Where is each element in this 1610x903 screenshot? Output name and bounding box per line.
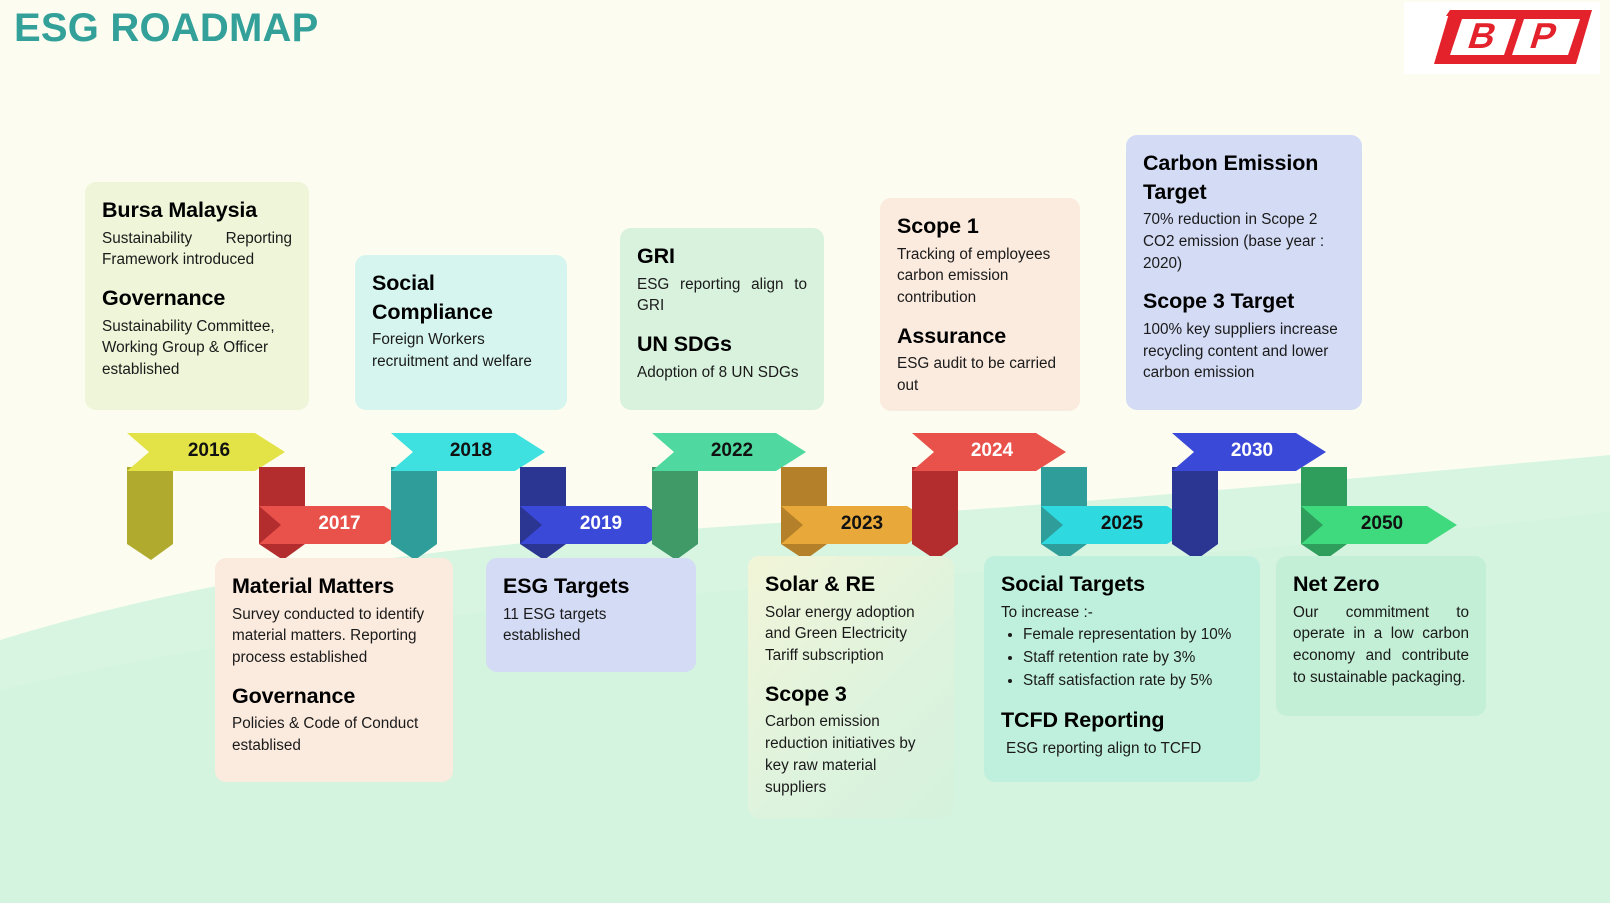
milestone-card-social-compliance: Social ComplianceForeign Workers recruit… [355, 255, 567, 410]
arrow-fold-2024 [912, 467, 958, 560]
card-heading: Carbon Emission Target [1143, 149, 1345, 206]
milestone-card-bursa-malaysia: Bursa MalaysiaSustainability Reporting F… [85, 182, 309, 410]
card-body: Sustainability Committee, Working Group … [102, 316, 292, 381]
arrow-fold-2022 [652, 467, 698, 560]
timeline-arrow-2017 [259, 506, 414, 544]
card-heading: Scope 3 [765, 680, 937, 709]
timeline-arrow-2050 [1301, 506, 1457, 544]
card-body: Our commitment to operate in a low carbo… [1293, 602, 1469, 689]
card-heading: Bursa Malaysia [102, 196, 292, 225]
arrow-fold-2018 [391, 467, 437, 560]
card-bullet-item: Staff satisfaction rate by 5% [1023, 670, 1243, 693]
esg-roadmap-infographic: ESG ROADMAP B P Bursa MalaysiaSustainabi… [0, 0, 1610, 903]
milestone-card-gri-un-sdgs: GRIESG reporting align to GRIUN SDGsAdop… [620, 228, 824, 410]
card-body: ESG reporting align to TCFD [1001, 738, 1243, 760]
card-heading: GRI [637, 242, 807, 271]
card-body: 100% key suppliers increase recycling co… [1143, 319, 1345, 384]
card-body: Sustainability Reporting Framework intro… [102, 228, 292, 271]
card-body: Carbon emission reduction initiatives by… [765, 711, 937, 798]
card-body: 70% reduction in Scope 2 CO2 emission (b… [1143, 209, 1345, 274]
card-body: Adoption of 8 UN SDGs [637, 362, 807, 384]
milestone-card-solar-re-scope-3: Solar & RESolar energy adoption and Gree… [748, 556, 954, 818]
company-logo: B P [1404, 2, 1600, 74]
timeline-arrow-2022 [652, 433, 806, 471]
card-heading: Material Matters [232, 572, 436, 601]
card-heading: Governance [102, 284, 292, 313]
card-bullet-item: Staff retention rate by 3% [1023, 647, 1243, 670]
card-body: Survey conducted to identify material ma… [232, 604, 436, 669]
card-bullet-list: Female representation by 10%Staff retent… [1001, 624, 1243, 693]
arrow-fold-2016 [127, 467, 173, 560]
card-body: Tracking of employees carbon emission co… [897, 244, 1063, 309]
card-heading: Social Compliance [372, 269, 550, 326]
milestone-card-carbon-emission-target: Carbon Emission Target70% reduction in S… [1126, 135, 1362, 410]
timeline-arrow-2016 [127, 433, 285, 471]
timeline-arrow-2018 [391, 433, 545, 471]
page-title: ESG ROADMAP [14, 6, 318, 51]
timeline-arrow-2024 [912, 433, 1066, 471]
card-bullet-item: Female representation by 10% [1023, 624, 1243, 647]
milestone-card-esg-targets: ESG Targets11 ESG targets established [486, 558, 696, 672]
milestone-card-net-zero: Net ZeroOur commitment to operate in a l… [1276, 556, 1486, 716]
card-heading: Scope 1 [897, 212, 1063, 241]
milestone-card-social-targets-tcfd: Social TargetsTo increase :-Female repre… [984, 556, 1260, 782]
card-heading: TCFD Reporting [1001, 706, 1243, 735]
card-heading: Governance [232, 682, 436, 711]
card-body: Solar energy adoption and Green Electric… [765, 602, 937, 667]
card-heading: UN SDGs [637, 330, 807, 359]
card-body: Policies & Code of Conduct establised [232, 713, 436, 756]
card-heading: Assurance [897, 322, 1063, 351]
arrow-fold-2030 [1172, 467, 1218, 560]
card-body: To increase :- [1001, 602, 1243, 624]
card-heading: Social Targets [1001, 570, 1243, 599]
card-body: 11 ESG targets established [503, 604, 679, 647]
card-heading: ESG Targets [503, 572, 679, 601]
card-heading: Scope 3 Target [1143, 287, 1345, 316]
card-body: ESG audit to be carried out [897, 353, 1063, 396]
milestone-card-material-matters: Material MattersSurvey conducted to iden… [215, 558, 453, 782]
card-heading: Solar & RE [765, 570, 937, 599]
card-heading: Net Zero [1293, 570, 1469, 599]
card-body: Foreign Workers recruitment and welfare [372, 329, 550, 372]
timeline-arrow-2030 [1172, 433, 1326, 471]
card-body: ESG reporting align to GRI [637, 274, 807, 317]
milestone-card-scope-1-assurance: Scope 1Tracking of employees carbon emis… [880, 198, 1080, 411]
